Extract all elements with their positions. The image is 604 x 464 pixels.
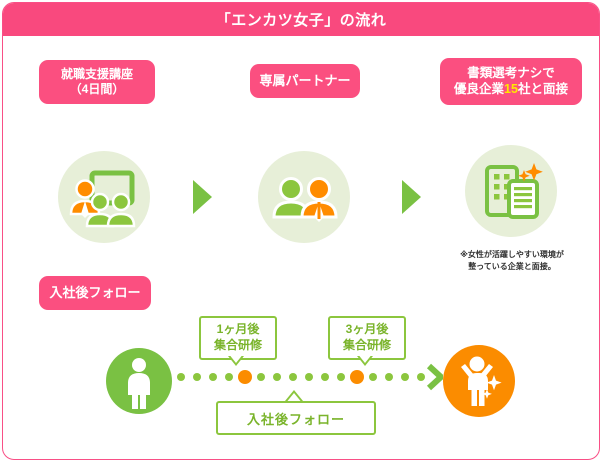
step3-label-line1: 書類選考ナシで <box>467 66 555 82</box>
two-people-icon <box>258 151 350 243</box>
note-line1: ※女性が活躍しやすい環境が <box>460 250 564 259</box>
step3-label-highlight-number: 15 <box>504 82 518 96</box>
step3-label-suffix: 社と面接 <box>518 82 568 96</box>
milestone-2-tail-inner-icon <box>357 353 373 363</box>
step-label-interview-15-companies: 書類選考ナシで 優良企業15社と面接 <box>440 58 582 105</box>
step3-label-prefix: 優良企業 <box>454 82 504 96</box>
arrow-step1-to-step2-icon <box>193 180 212 214</box>
celebrating-person-icon <box>443 345 515 417</box>
follow-up-label: 入社後フォロー <box>39 276 151 310</box>
flow-diagram-card: 「エンカツ女子」の流れ 就職支援講座 （4日間） 専属パートナー 書類選考ナシで… <box>2 2 600 460</box>
step2-label-line1: 専属パートナー <box>259 73 350 89</box>
office-buildings-sparkle-icon <box>465 145 557 237</box>
step-label-job-support-course: 就職支援講座 （4日間） <box>39 60 155 104</box>
milestone-2-line1: 3ヶ月後 <box>346 322 389 338</box>
step3-label-line2: 優良企業15社と面接 <box>454 82 568 98</box>
step1-label-line2: （4日間） <box>70 82 125 97</box>
milestone-1-line1: 1ヶ月後 <box>217 322 260 338</box>
step1-label-line1: 就職支援講座 <box>61 67 133 82</box>
milestone-1-line2: 集合研修 <box>214 338 262 354</box>
follow-up-pill-text: 入社後フォロー <box>49 285 140 301</box>
note-line2: 整っている企業と面接。 <box>468 262 556 271</box>
milestone-1-tail-inner-icon <box>228 353 244 363</box>
classroom-lecture-icon <box>58 151 150 243</box>
arrow-step2-to-step3-icon <box>402 180 421 214</box>
page-title: 「エンカツ女子」の流れ <box>3 3 599 36</box>
standing-person-icon <box>106 348 172 414</box>
timeline-dotted-arrow <box>173 363 443 396</box>
step-label-exclusive-partner: 専属パートナー <box>250 64 360 98</box>
follow-up-callout: 入社後フォロー <box>216 401 376 435</box>
interview-note-text: ※女性が活躍しやすい環境が 整っている企業と面接。 <box>435 249 589 272</box>
milestone-2-line2: 集合研修 <box>343 338 391 354</box>
